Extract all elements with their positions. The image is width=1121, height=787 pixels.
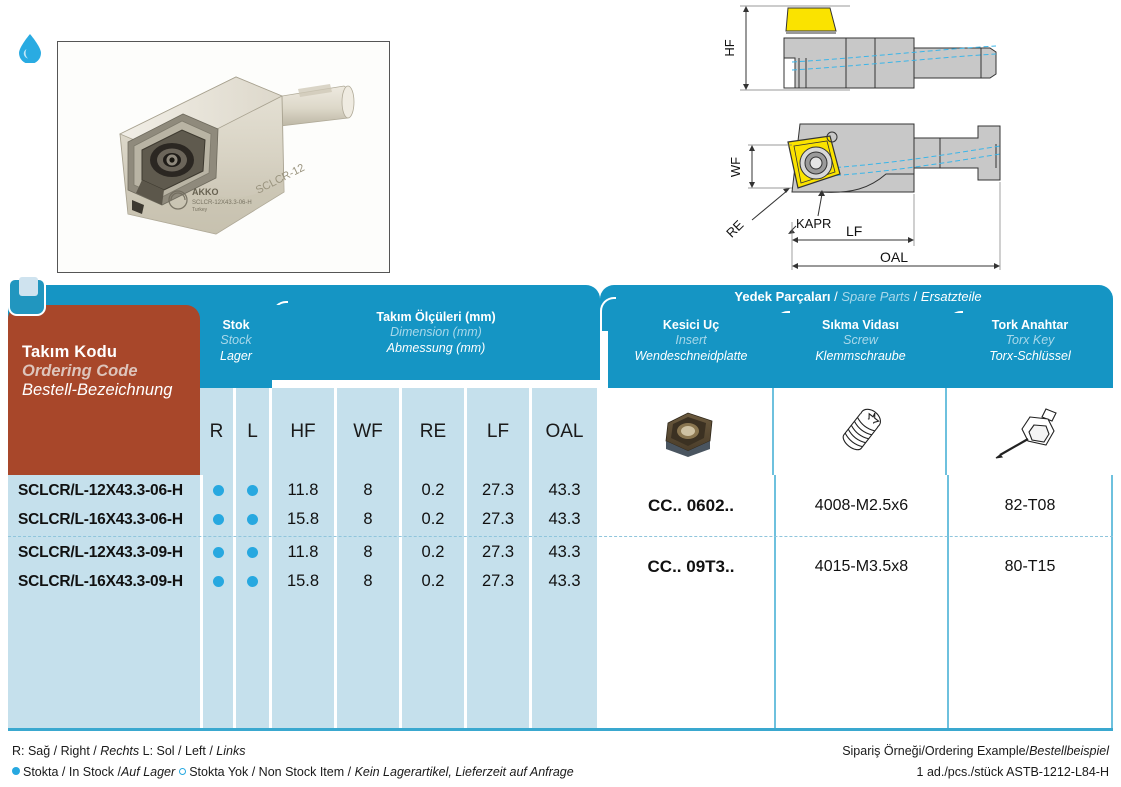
column-header-screw: Sıkma Vidası Screw Klemmschraube (774, 313, 947, 388)
bookmark-inner-square (19, 277, 38, 296)
label-lf: LF (846, 223, 862, 239)
spare-insert-code: CC.. 09T3.. (608, 538, 774, 596)
label-wf: WF (728, 157, 743, 177)
row-re: 0.2 (402, 476, 464, 505)
footer-right-hand-label: R: Sağ / Right / (12, 744, 100, 758)
footer-left-hand-de: Links (216, 744, 245, 758)
row-stock-r (203, 567, 233, 596)
group-separator (8, 536, 1113, 537)
top-view-diagram: WF RE KAPR LF OAL (700, 110, 1100, 280)
group-header-stock-de: Lager (200, 349, 272, 364)
legend-no-stock-de: Kein Lagerartikel, Lieferzeit auf Anfrag… (355, 765, 574, 779)
label-hf: HF (722, 39, 737, 56)
legend-dot-filled-icon (12, 767, 20, 775)
column-header-torx-tr: Tork Anahtar (947, 318, 1113, 333)
svg-text:SCLCR-12X43.3-06-H: SCLCR-12X43.3-06-H (192, 200, 252, 206)
subheader-hf: HF (272, 388, 337, 475)
legend-no-stock-label: Stokta Yok / Non Stock Item / (189, 765, 354, 779)
row-stock-l (236, 476, 269, 505)
spare-parts-title-en: Spare Parts (841, 289, 910, 304)
group-header-dimensions-tr: Takım Ölçüleri (mm) (272, 310, 600, 325)
row-stock-r (203, 505, 233, 534)
subheader-l: L (236, 388, 272, 475)
row-wf: 8 (337, 505, 399, 534)
group-header-stock-tr: Stok (200, 318, 272, 333)
column-header-insert: Kesici Uç Insert Wendeschneidplatte (608, 313, 774, 388)
footer-ordering-example-value: 1 ad./pcs./stück ASTB-1212-L84-H (917, 765, 1109, 779)
row-stock-l (236, 505, 269, 534)
row-hf: 15.8 (272, 505, 334, 534)
table-body: SCLCR/L-12X43.3-06-H 11.8 8 0.2 27.3 43.… (8, 475, 1113, 730)
row-oal: 43.3 (532, 567, 597, 596)
subheader-wf: WF (337, 388, 402, 475)
column-header-insert-de: Wendeschneidplatte (608, 349, 774, 364)
stock-dot-filled (247, 514, 258, 525)
row-code: SCLCR/L-16X43.3-06-H (18, 505, 200, 534)
column-header-screw-en: Screw (774, 333, 947, 348)
svg-text:AKKO: AKKO (192, 187, 219, 197)
column-separator (1111, 475, 1113, 730)
row-wf: 8 (337, 538, 399, 567)
table-row[interactable]: SCLCR/L-12X43.3-06-H 11.8 8 0.2 27.3 43.… (8, 476, 600, 505)
row-lf: 27.3 (467, 476, 529, 505)
group-header-dimensions-en: Dimension (mm) (272, 325, 600, 340)
product-specification-table: Yedek Parçaları / Spare Parts / Ersatzte… (8, 285, 1113, 730)
footer-stock-legend: Stokta / In Stock /Auf LagerStokta Yok /… (12, 765, 574, 779)
row-stock-r (203, 476, 233, 505)
torx-key-image-cell (947, 388, 1113, 475)
ordering-code-en: Ordering Code (22, 362, 200, 381)
subheader-re: RE (402, 388, 467, 475)
row-hf: 11.8 (272, 538, 334, 567)
spare-torx-code: 82-T08 (949, 476, 1111, 536)
subheader-oal: OAL (532, 388, 600, 475)
row-hf: 11.8 (272, 476, 334, 505)
ordering-code-tr: Takım Kodu (22, 343, 200, 362)
product-photo: AKKO SCLCR-12X43.3-06-H Turkey SCLCR-12 (57, 41, 390, 273)
spare-parts-title-de: Ersatzteile (921, 289, 982, 304)
torx-key-icon (990, 403, 1070, 461)
column-header-insert-en: Insert (608, 333, 774, 348)
spare-screw-code: 4008-M2.5x6 (776, 476, 947, 536)
label-re: RE (723, 217, 747, 241)
label-kapr: KAPR (796, 216, 831, 231)
page-footer: R: Sağ / Right / Rechts L: Sol / Left / … (0, 738, 1121, 787)
top-illustration-area: AKKO SCLCR-12X43.3-06-H Turkey SCLCR-12 (0, 0, 1121, 285)
ordering-code-header: Takım Kodu Ordering Code Bestell-Bezeich… (8, 305, 200, 475)
column-header-torx-de: Torx-Schlüssel (947, 349, 1113, 364)
row-oal: 43.3 (532, 476, 597, 505)
stock-dot-filled (213, 576, 224, 587)
spare-parts-group-title: Yedek Parçaları / Spare Parts / Ersatzte… (608, 289, 1108, 304)
spare-parts-title-tr: Yedek Parçaları (734, 289, 830, 304)
group-header-stock-en: Stock (200, 333, 272, 348)
row-hf: 15.8 (272, 567, 334, 596)
ordering-example-label-de: Bestellbeispiel (1029, 744, 1109, 758)
ordering-example-label: Sipariş Örneği/Ordering Example/ (842, 744, 1029, 758)
row-lf: 27.3 (467, 505, 529, 534)
column-header-torx-en: Torx Key (947, 333, 1113, 348)
table-bottom-rule (8, 728, 1113, 731)
legend-in-stock-label: Stokta / In Stock / (23, 765, 121, 779)
footer-right-hand-de: Rechts (100, 744, 139, 758)
stock-dot-filled (247, 576, 258, 587)
legend-in-stock-de: Auf Lager (121, 765, 175, 779)
stock-dot-filled (247, 547, 258, 558)
row-wf: 8 (337, 567, 399, 596)
stock-dot-filled (247, 485, 258, 496)
row-code: SCLCR/L-12X43.3-06-H (18, 476, 200, 505)
table-row[interactable]: SCLCR/L-16X43.3-06-H 15.8 8 0.2 27.3 43.… (8, 505, 600, 534)
table-row[interactable]: SCLCR/L-16X43.3-09-H 15.8 8 0.2 27.3 43.… (8, 567, 600, 596)
row-code: SCLCR/L-12X43.3-09-H (18, 538, 200, 567)
footer-left-hand-label: L: Sol / Left / (139, 744, 216, 758)
legend-dot-open-icon (179, 768, 186, 775)
subheader-r: R (200, 388, 236, 475)
row-oal: 43.3 (532, 505, 597, 534)
column-header-screw-de: Klemmschraube (774, 349, 947, 364)
label-oal: OAL (880, 249, 908, 265)
column-header-torx-key: Tork Anahtar Torx Key Torx-Schlüssel (947, 313, 1113, 388)
row-re: 0.2 (402, 538, 464, 567)
row-re: 0.2 (402, 505, 464, 534)
row-code: SCLCR/L-16X43.3-09-H (18, 567, 200, 596)
spare-insert-code: CC.. 0602.. (608, 476, 774, 536)
column-header-screw-tr: Sıkma Vidası (774, 318, 947, 333)
screw-image-cell (774, 388, 947, 475)
svg-text:Turkey: Turkey (192, 207, 208, 213)
insert-image-cell (608, 388, 774, 475)
section-bookmark-tab (8, 278, 46, 316)
stock-dot-filled (213, 485, 224, 496)
ordering-code-de: Bestell-Bezeichnung (22, 381, 200, 400)
footer-hand-legend: R: Sağ / Right / Rechts L: Sol / Left / … (12, 744, 245, 758)
group-header-stock: Stok Stock Lager (200, 313, 272, 388)
table-row[interactable]: SCLCR/L-12X43.3-09-H 11.8 8 0.2 27.3 43.… (8, 538, 600, 567)
row-lf: 27.3 (467, 538, 529, 567)
row-lf: 27.3 (467, 567, 529, 596)
column-header-insert-tr: Kesici Uç (608, 318, 774, 333)
row-re: 0.2 (402, 567, 464, 596)
insert-photo-icon (658, 407, 722, 457)
subheader-lf: LF (467, 388, 532, 475)
row-stock-l (236, 567, 269, 596)
group-header-dimensions: Takım Ölçüleri (mm) Dimension (mm) Abmes… (272, 305, 600, 380)
side-view-diagram: HF (700, 0, 1100, 105)
stock-dot-filled (213, 547, 224, 558)
spare-torx-code: 80-T15 (949, 538, 1111, 596)
row-wf: 8 (337, 476, 399, 505)
row-oal: 43.3 (532, 538, 597, 567)
row-stock-r (203, 538, 233, 567)
stock-dot-filled (213, 514, 224, 525)
group-header-dimensions-de: Abmessung (mm) (272, 341, 600, 356)
screw-icon (832, 404, 888, 460)
spare-screw-code: 4015-M3.5x8 (776, 538, 947, 596)
row-stock-l (236, 538, 269, 567)
footer-ordering-example-title: Sipariş Örneği/Ordering Example/Bestellb… (842, 744, 1109, 758)
coolant-droplet-icon (17, 33, 43, 63)
